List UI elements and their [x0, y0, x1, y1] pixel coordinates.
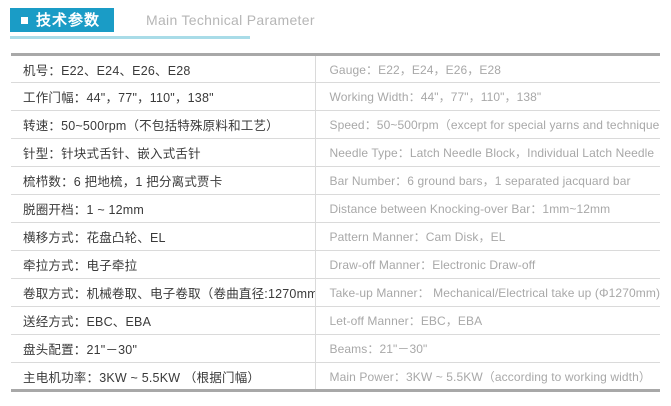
spec-label-chinese: 梳栉数：6 把地梳，1 把分离式贾卡: [11, 167, 315, 195]
table-row: 卷取方式：机械卷取、电子卷取（卷曲直径:1270mm) Take-up Mann…: [11, 279, 660, 307]
spec-label-english: Main Power：3KW ~ 5.5KW（according to work…: [315, 363, 660, 391]
table-row: 工作门幅：44"，77"，110"，138" Working Width：44"…: [11, 83, 660, 111]
square-bullet-icon: [21, 17, 28, 24]
table-row: 横移方式：花盘凸轮、EL Pattern Manner：Cam Disk，EL: [11, 223, 660, 251]
table-row: 针型：针块式舌针、嵌入式舌针 Needle Type：Latch Needle …: [11, 139, 660, 167]
section-title-chinese: 技术参数: [36, 13, 100, 28]
spec-label-english: Speed：50~500rpm（except for special yarns…: [315, 111, 660, 139]
spec-label-english: Bar Number：6 ground bars，1 separated jac…: [315, 167, 660, 195]
spec-label-chinese: 送经方式：EBC、EBA: [11, 307, 315, 335]
table-row: 盘头配置：21"－30" Beams：21"－30": [11, 335, 660, 363]
spec-label-chinese: 卷取方式：机械卷取、电子卷取（卷曲直径:1270mm): [11, 279, 315, 307]
section-title-badge: 技术参数: [10, 8, 114, 32]
table-row: 主电机功率：3KW ~ 5.5KW （根据门幅） Main Power：3KW …: [11, 363, 660, 391]
specifications-table: 机号：E22、E24、E26、E28 Gauge：E22，E24，E26，E28…: [11, 53, 660, 392]
spec-label-chinese: 主电机功率：3KW ~ 5.5KW （根据门幅）: [11, 363, 315, 391]
spec-label-chinese: 转速：50~500rpm（不包括特殊原料和工艺）: [11, 111, 315, 139]
spec-label-english: Gauge：E22，E24，E26，E28: [315, 55, 660, 83]
spec-label-chinese: 工作门幅：44"，77"，110"，138": [11, 83, 315, 111]
spec-label-english: Working Width：44"，77"，110"，138": [315, 83, 660, 111]
spec-label-english: Needle Type：Latch Needle Block，Individua…: [315, 139, 660, 167]
table-row: 机号：E22、E24、E26、E28 Gauge：E22，E24，E26，E28: [11, 55, 660, 83]
section-header: 技术参数 Main Technical Parameter: [0, 0, 671, 42]
spec-label-chinese: 横移方式：花盘凸轮、EL: [11, 223, 315, 251]
header-underline-rule: [10, 36, 250, 39]
table-row: 牵拉方式：电子牵拉 Draw-off Manner：Electronic Dra…: [11, 251, 660, 279]
section-title-english: Main Technical Parameter: [146, 12, 315, 28]
specifications-table-container: 机号：E22、E24、E26、E28 Gauge：E22，E24，E26，E28…: [11, 53, 660, 392]
spec-label-english: Beams：21"－30": [315, 335, 660, 363]
table-row: 送经方式：EBC、EBA Let-off Manner：EBC，EBA: [11, 307, 660, 335]
spec-label-chinese: 盘头配置：21"－30": [11, 335, 315, 363]
table-row: 转速：50~500rpm（不包括特殊原料和工艺） Speed：50~500rpm…: [11, 111, 660, 139]
spec-label-english: Distance between Knocking-over Bar：1mm~1…: [315, 195, 660, 223]
spec-label-english: Take-up Manner： Mechanical/Electrical ta…: [315, 279, 660, 307]
spec-label-chinese: 机号：E22、E24、E26、E28: [11, 55, 315, 83]
table-row: 梳栉数：6 把地梳，1 把分离式贾卡 Bar Number：6 ground b…: [11, 167, 660, 195]
spec-label-chinese: 针型：针块式舌针、嵌入式舌针: [11, 139, 315, 167]
spec-label-chinese: 脱圈开档：1 ~ 12mm: [11, 195, 315, 223]
table-row: 脱圈开档：1 ~ 12mm Distance between Knocking-…: [11, 195, 660, 223]
spec-label-english: Let-off Manner：EBC，EBA: [315, 307, 660, 335]
specifications-table-body: 机号：E22、E24、E26、E28 Gauge：E22，E24，E26，E28…: [11, 55, 660, 391]
spec-label-english: Draw-off Manner：Electronic Draw-off: [315, 251, 660, 279]
spec-label-chinese: 牵拉方式：电子牵拉: [11, 251, 315, 279]
spec-label-english: Pattern Manner：Cam Disk，EL: [315, 223, 660, 251]
